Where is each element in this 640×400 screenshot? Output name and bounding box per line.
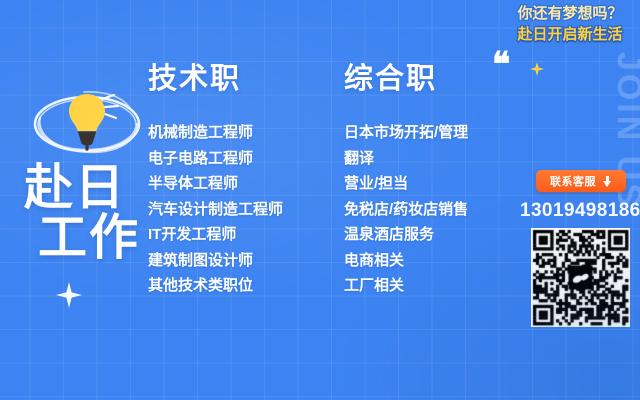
list-item: 电商相关 [344,248,468,274]
page-title-line-2: 工作 [38,213,140,263]
qr-code[interactable] [531,228,630,327]
list-item: 建筑制图设计师 [148,248,283,274]
column-tech: 技术职 机械制造工程师 电子电路工程师 半导体工程师 汽车设计制造工程师 IT开… [148,62,283,299]
list-item: 汽车设计制造工程师 [148,197,283,223]
column-general: 综合职 日本市场开拓/管理 翻译 营业/担当 免税店/药妆店销售 温泉酒店服务 … [344,62,468,299]
list-item: 电子电路工程师 [148,146,283,172]
list-item: 营业/担当 [344,171,468,197]
yellow-sparkle-icon [530,62,544,76]
list-item: 翻译 [344,146,468,172]
poster-canvas: JOIN US 你还有梦想吗？ 赴日开启新生活 ❝ [0,0,640,400]
quote-mark-icon: ❝ [492,48,510,82]
list-item: 温泉酒店服务 [344,222,468,248]
page-title-line-1: 赴日 [24,163,140,213]
list-item: 工厂相关 [344,273,468,299]
contact-support-label: 联系客服 [550,173,596,189]
arrow-down-icon [603,176,612,187]
slogan-line-1: 你还有梦想吗？ [505,4,635,24]
list-item: 机械制造工程师 [148,120,283,146]
column-tech-list: 机械制造工程师 电子电路工程师 半导体工程师 汽车设计制造工程师 IT开发工程师… [148,120,283,299]
page-title: 赴日 工作 [24,163,140,263]
column-general-list: 日本市场开拓/管理 翻译 营业/担当 免税店/药妆店销售 温泉酒店服务 电商相关… [344,120,468,299]
phone-number[interactable]: 13019498186 [520,200,640,222]
column-tech-heading: 技术职 [148,62,283,96]
contact-support-button[interactable]: 联系客服 [536,170,626,192]
list-item: 日本市场开拓/管理 [344,120,468,146]
white-sparkle-icon [56,282,82,308]
list-item: 其他技术类职位 [148,273,283,299]
column-general-heading: 综合职 [344,62,468,96]
list-item: 半导体工程师 [148,171,283,197]
slogan-line-2: 赴日开启新生活 [505,25,635,45]
list-item: IT开发工程师 [148,222,283,248]
lightbulb-icon [26,78,148,170]
slogan-block: 你还有梦想吗？ 赴日开启新生活 [505,4,635,45]
list-item: 免税店/药妆店销售 [344,197,468,223]
